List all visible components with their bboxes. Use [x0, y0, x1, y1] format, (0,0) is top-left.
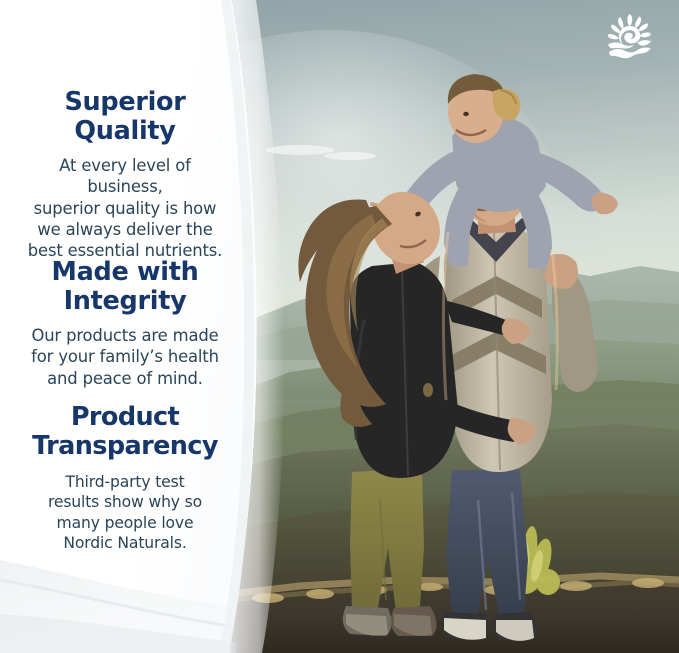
quality-body: At every level of business, superior qua…	[0, 155, 250, 262]
integrity-headline-line-1: Made with	[52, 257, 199, 287]
value-prop-transparency: Product Transparency Third-party test re…	[0, 403, 250, 553]
quality-body-line-3: we always deliver the	[37, 220, 212, 239]
transparency-headline: Product Transparency	[0, 403, 250, 461]
transparency-body-line-4: Nordic Naturals.	[63, 534, 186, 552]
integrity-headline: Made with Integrity	[0, 258, 250, 316]
value-prop-quality: Superior Quality At every level of busin…	[0, 88, 250, 262]
quality-body-line-1: At every level of business,	[59, 156, 191, 196]
integrity-headline-line-2: Integrity	[64, 286, 187, 316]
transparency-headline-line-2: Transparency	[32, 431, 218, 461]
quality-headline-line-1: Superior	[64, 87, 185, 117]
quality-headline: Superior Quality	[0, 88, 250, 146]
value-prop-integrity: Made with Integrity Our products are mad…	[0, 258, 250, 389]
transparency-headline-line-1: Product	[71, 402, 179, 432]
transparency-body-line-2: results show why so	[48, 493, 202, 511]
quality-headline-line-2: Quality	[74, 116, 175, 146]
integrity-body-line-1: Our products are made	[31, 326, 218, 345]
integrity-body: Our products are made for your family’s …	[0, 325, 250, 389]
transparency-body-line-1: Third-party test	[65, 473, 184, 491]
sun-wave-logo-icon	[604, 12, 656, 62]
quality-body-line-2: superior quality is how	[34, 199, 217, 218]
integrity-body-line-2: for your family’s health	[31, 347, 219, 366]
value-props-text-layer: Superior Quality At every level of busin…	[0, 0, 250, 653]
promo-banner: Superior Quality At every level of busin…	[0, 0, 679, 653]
transparency-body-line-3: many people love	[57, 514, 194, 532]
transparency-body: Third-party test results show why so man…	[0, 472, 250, 553]
integrity-body-line-3: and peace of mind.	[47, 369, 203, 388]
